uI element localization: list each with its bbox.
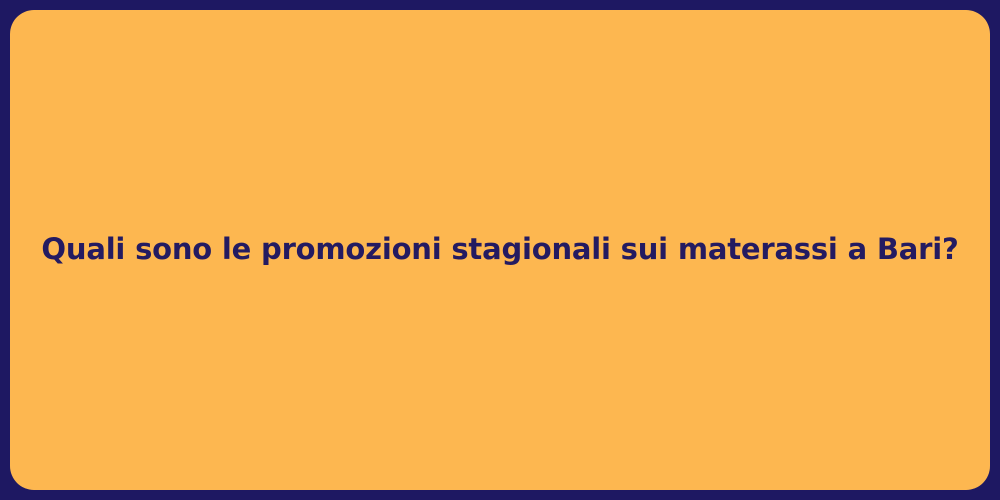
card-frame: Quali sono le promozioni stagionali sui … [0, 0, 1000, 500]
card-panel: Quali sono le promozioni stagionali sui … [10, 10, 990, 490]
page-title: Quali sono le promozioni stagionali sui … [41, 230, 958, 269]
